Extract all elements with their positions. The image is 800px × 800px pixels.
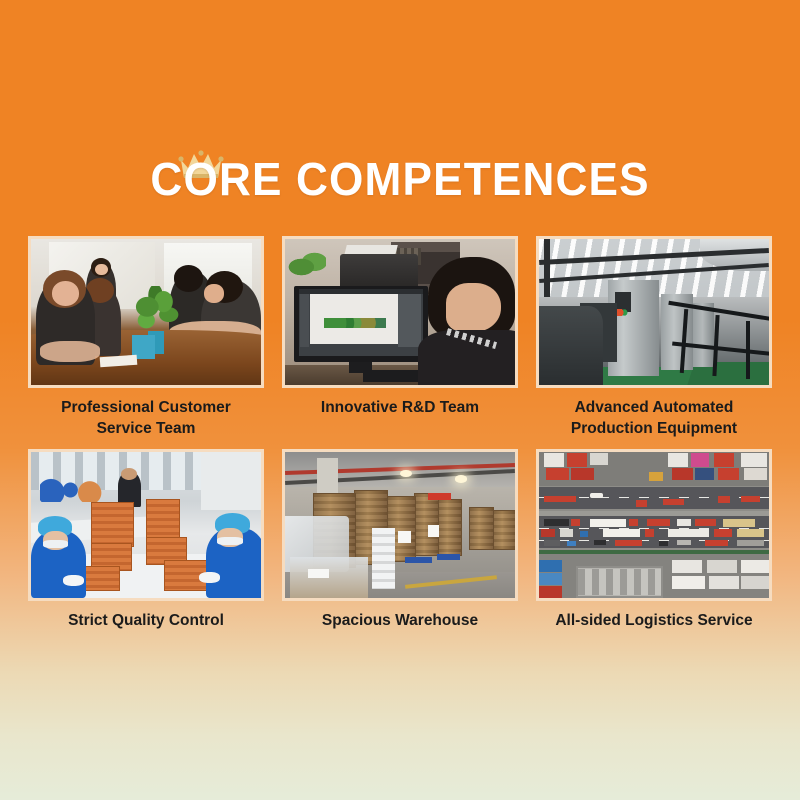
page-title: CORE COMPETENCES [150, 152, 649, 206]
competence-card-advanced-automated-production-equipment[interactable]: Advanced Automated Production Equipment [536, 236, 772, 441]
competence-caption: Advanced Automated Production Equipment [536, 397, 772, 441]
competence-photo-press [536, 236, 772, 388]
competence-photo-warehouse [282, 449, 518, 601]
competence-photo-rd [282, 236, 518, 388]
title-block: CORE COMPETENCES [0, 152, 800, 206]
competence-photo-quality [28, 449, 264, 601]
competence-card-strict-quality-control[interactable]: Strict Quality Control [28, 441, 264, 636]
competence-caption: Spacious Warehouse [282, 610, 518, 636]
competence-caption: Innovative R&D Team [282, 397, 518, 441]
competence-card-all-sided-logistics-service[interactable]: All-sided Logistics Service [536, 441, 772, 636]
competence-card-spacious-warehouse[interactable]: Spacious Warehouse [282, 441, 518, 636]
competence-caption: Professional Customer Service Team [28, 397, 264, 441]
core-competences-banner: CORE COMPETENCES Profes [0, 0, 800, 800]
competence-photo-meeting [28, 236, 264, 388]
competence-card-professional-customer-service-team[interactable]: Professional Customer Service Team [28, 236, 264, 441]
competence-caption: Strict Quality Control [28, 610, 264, 636]
competence-photo-logistics [536, 449, 772, 601]
competence-card-innovative-rd-team[interactable]: Innovative R&D Team [282, 236, 518, 441]
competence-caption: All-sided Logistics Service [536, 610, 772, 636]
competences-grid: Professional Customer Service Team [28, 236, 772, 636]
